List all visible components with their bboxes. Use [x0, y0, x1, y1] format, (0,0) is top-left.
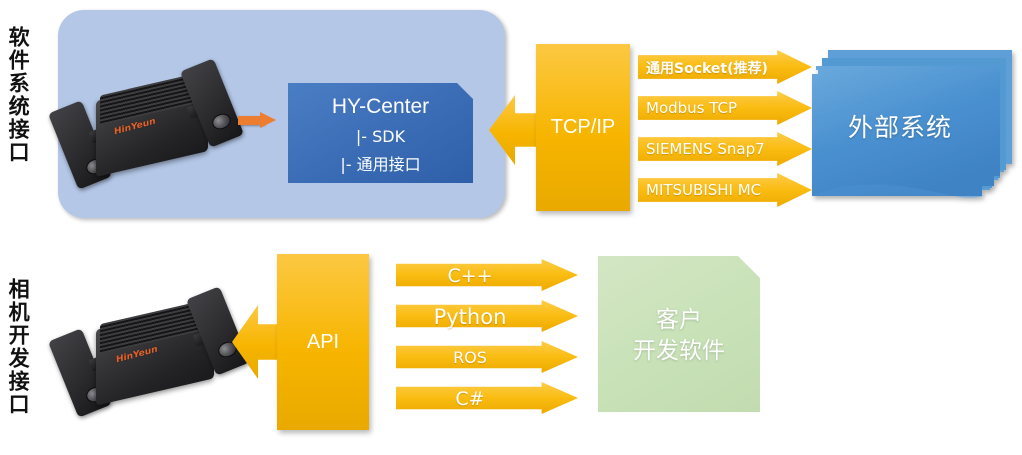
customer-software-label-line2: 开发软件 — [598, 336, 760, 366]
section-caption-software-system-interface: 软件系统接口 — [6, 26, 29, 164]
protocol-label-mitsubishi-mc: MITSUBISHI MC — [646, 181, 761, 199]
api-label: API — [307, 331, 339, 354]
language-label-ros: ROS — [396, 348, 544, 367]
hy-center-line-sdk: |- SDK — [288, 127, 473, 146]
flow-arrow-device-to-center — [238, 110, 280, 130]
section-caption-camera-development-interface: 相机开发接口 — [6, 278, 29, 416]
language-label-csharp: C# — [396, 388, 544, 410]
customer-software-label-line1: 客户 — [598, 305, 760, 335]
language-label-cpp: C++ — [396, 265, 544, 287]
camera-device-illustration-bottom: HinYeun — [58, 288, 258, 423]
protocol-label-socket: 通用Socket(推荐) — [646, 58, 768, 78]
hy-center-title: HY-Center — [288, 95, 473, 119]
api-block[interactable]: API — [277, 254, 369, 430]
protocol-label-modbus-tcp: Modbus TCP — [646, 99, 737, 117]
protocol-label-siemens-snap7: SIEMENS Snap7 — [646, 140, 765, 158]
tcpip-label: TCP/IP — [551, 116, 615, 139]
external-system-shape[interactable]: 外部系统 — [812, 44, 1018, 209]
external-system-label: 外部系统 — [848, 108, 952, 144]
tcpip-block[interactable]: TCP/IP — [536, 44, 630, 211]
camera-device-illustration-top: HinYeun — [60, 58, 250, 198]
hy-center-line-general-interface: |- 通用接口 — [288, 151, 473, 175]
language-label-python: Python — [396, 305, 544, 329]
hy-center-card[interactable]: HY-Center |- SDK |- 通用接口 — [288, 83, 473, 183]
customer-software-card[interactable]: 客户 开发软件 — [598, 256, 760, 412]
